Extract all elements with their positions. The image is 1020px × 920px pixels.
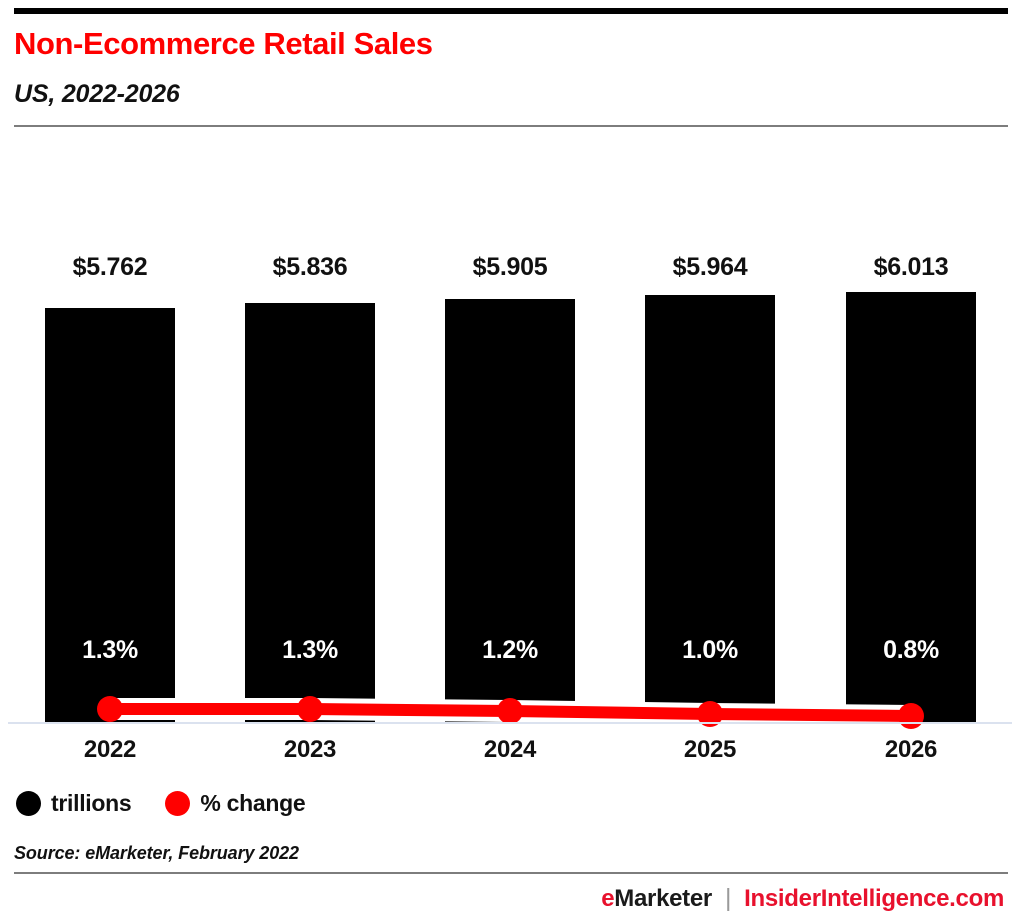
footer: eMarketer | InsiderIntelligence.com [601,884,1004,913]
legend-label: % change [200,790,305,817]
chart-page: Non-Ecommerce Retail Sales US, 2022-2026… [0,0,1020,920]
plot-area: $5.762 $5.836 $5.905 $5.964 $6.013 1.3% … [0,0,1020,920]
brand-e-letter: e [601,885,614,912]
x-axis-baseline [8,722,1012,724]
legend-dot-icon [165,791,190,816]
x-tick-label-2026: 2026 [846,736,976,764]
legend-item-pct-change[interactable]: % change [165,790,305,817]
pct-change-label: 0.8% [846,636,976,665]
legend-dot-icon [16,791,41,816]
legend-label: trillions [51,790,131,817]
pct-change-label: 1.0% [645,636,775,665]
chart-legend: trillions % change [16,790,305,817]
emarketer-logo[interactable]: eMarketer [601,885,712,913]
bar-value-label: $5.836 [245,253,375,282]
bar-value-label: $6.013 [846,253,976,282]
brand-name: Marketer [614,885,712,912]
insider-intelligence-link[interactable]: InsiderIntelligence.com [744,885,1004,913]
footer-separator: | [725,884,731,913]
x-tick-label-2022: 2022 [45,736,175,764]
legend-item-trillions[interactable]: trillions [16,790,131,817]
pct-change-label: 1.2% [445,636,575,665]
x-tick-label-2025: 2025 [645,736,775,764]
bar-value-label: $5.905 [445,253,575,282]
bar-value-label: $5.762 [45,253,175,282]
bar-value-label: $5.964 [645,253,775,282]
pct-change-label: 1.3% [45,636,175,665]
source-note: Source: eMarketer, February 2022 [14,843,299,864]
pct-change-label: 1.3% [245,636,375,665]
x-tick-label-2024: 2024 [445,736,575,764]
x-tick-label-2023: 2023 [245,736,375,764]
footer-divider [14,872,1008,874]
